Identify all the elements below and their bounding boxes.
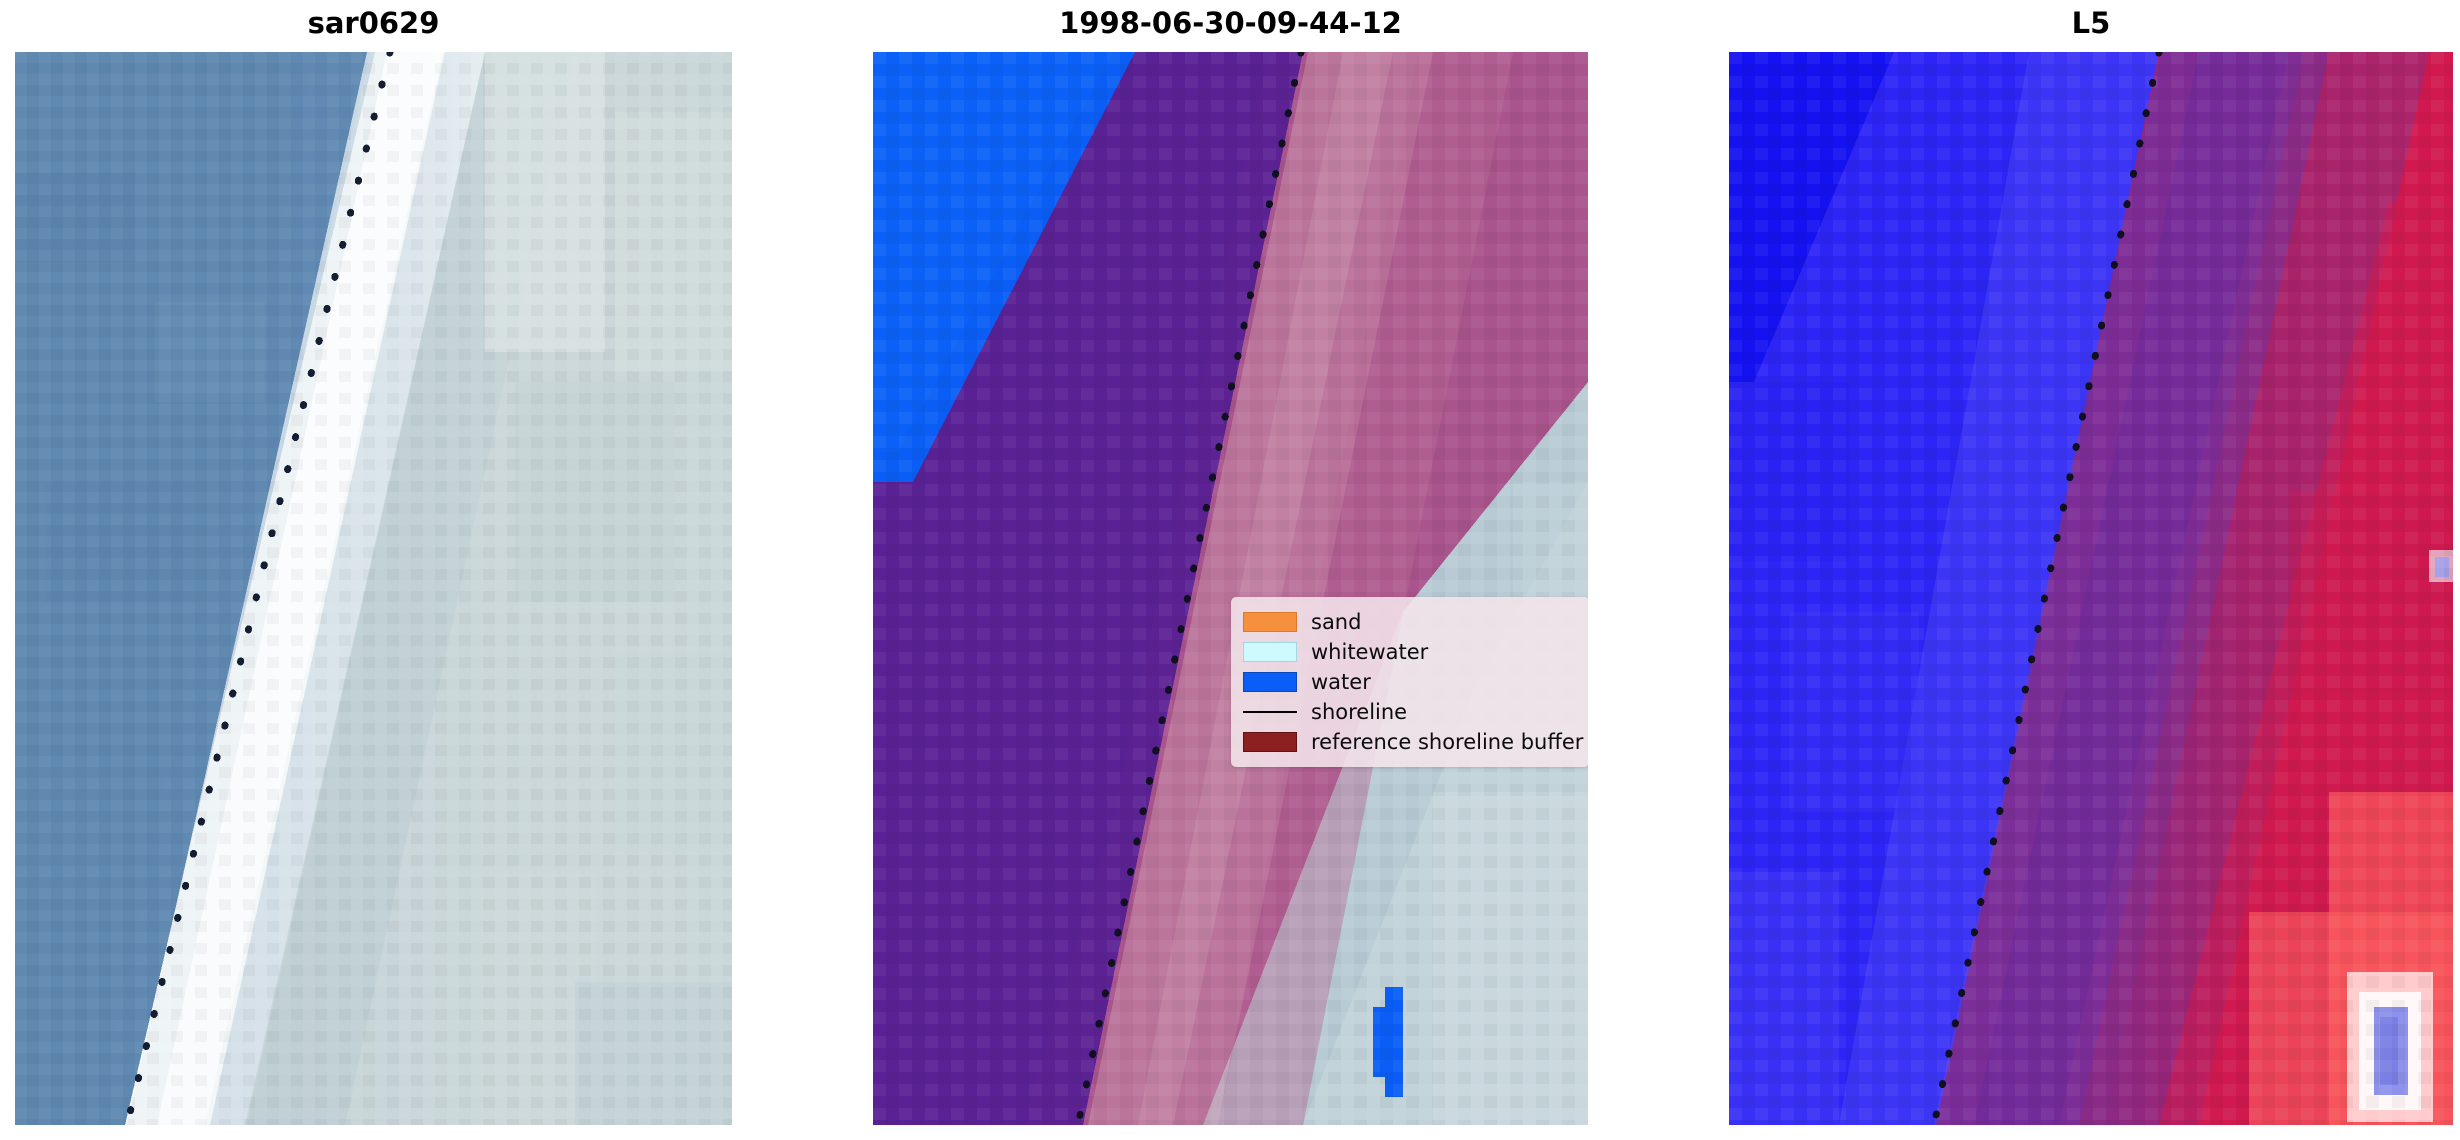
panel-title-l5: L5 xyxy=(1729,6,2453,40)
legend-label-whitewater: whitewater xyxy=(1311,642,1428,663)
legend-item-sand[interactable]: sand xyxy=(1243,607,1577,637)
panel-title-classification: 1998-06-30-09-44-12 xyxy=(873,6,1588,40)
legend-item-reference-shoreline-buffer[interactable]: reference shoreline buffer xyxy=(1243,727,1577,757)
classification-panel[interactable]: sand whitewater water shoreline referenc… xyxy=(873,52,1588,1125)
l5-image xyxy=(1729,52,2453,1125)
sar-image xyxy=(15,52,732,1125)
legend-item-whitewater[interactable]: whitewater xyxy=(1243,637,1577,667)
legend-item-shoreline[interactable]: shoreline xyxy=(1243,697,1577,727)
reference-buffer-swatch xyxy=(1243,732,1297,752)
legend-label-sand: sand xyxy=(1311,612,1361,633)
sar-panel[interactable] xyxy=(15,52,732,1125)
figure-canvas: sar0629 xyxy=(0,0,2460,1140)
panel-title-sar: sar0629 xyxy=(15,6,732,40)
sand-swatch xyxy=(1243,612,1297,632)
classification-image xyxy=(873,52,1588,1125)
legend-label-water: water xyxy=(1311,672,1371,693)
shoreline-line-icon xyxy=(1243,702,1297,722)
legend-label-shoreline: shoreline xyxy=(1311,702,1407,723)
legend-label-reference-shoreline-buffer: reference shoreline buffer xyxy=(1311,732,1583,753)
l5-panel[interactable] xyxy=(1729,52,2453,1125)
legend-item-water[interactable]: water xyxy=(1243,667,1577,697)
whitewater-swatch xyxy=(1243,642,1297,662)
map-legend[interactable]: sand whitewater water shoreline referenc… xyxy=(1231,597,1588,767)
water-swatch xyxy=(1243,672,1297,692)
